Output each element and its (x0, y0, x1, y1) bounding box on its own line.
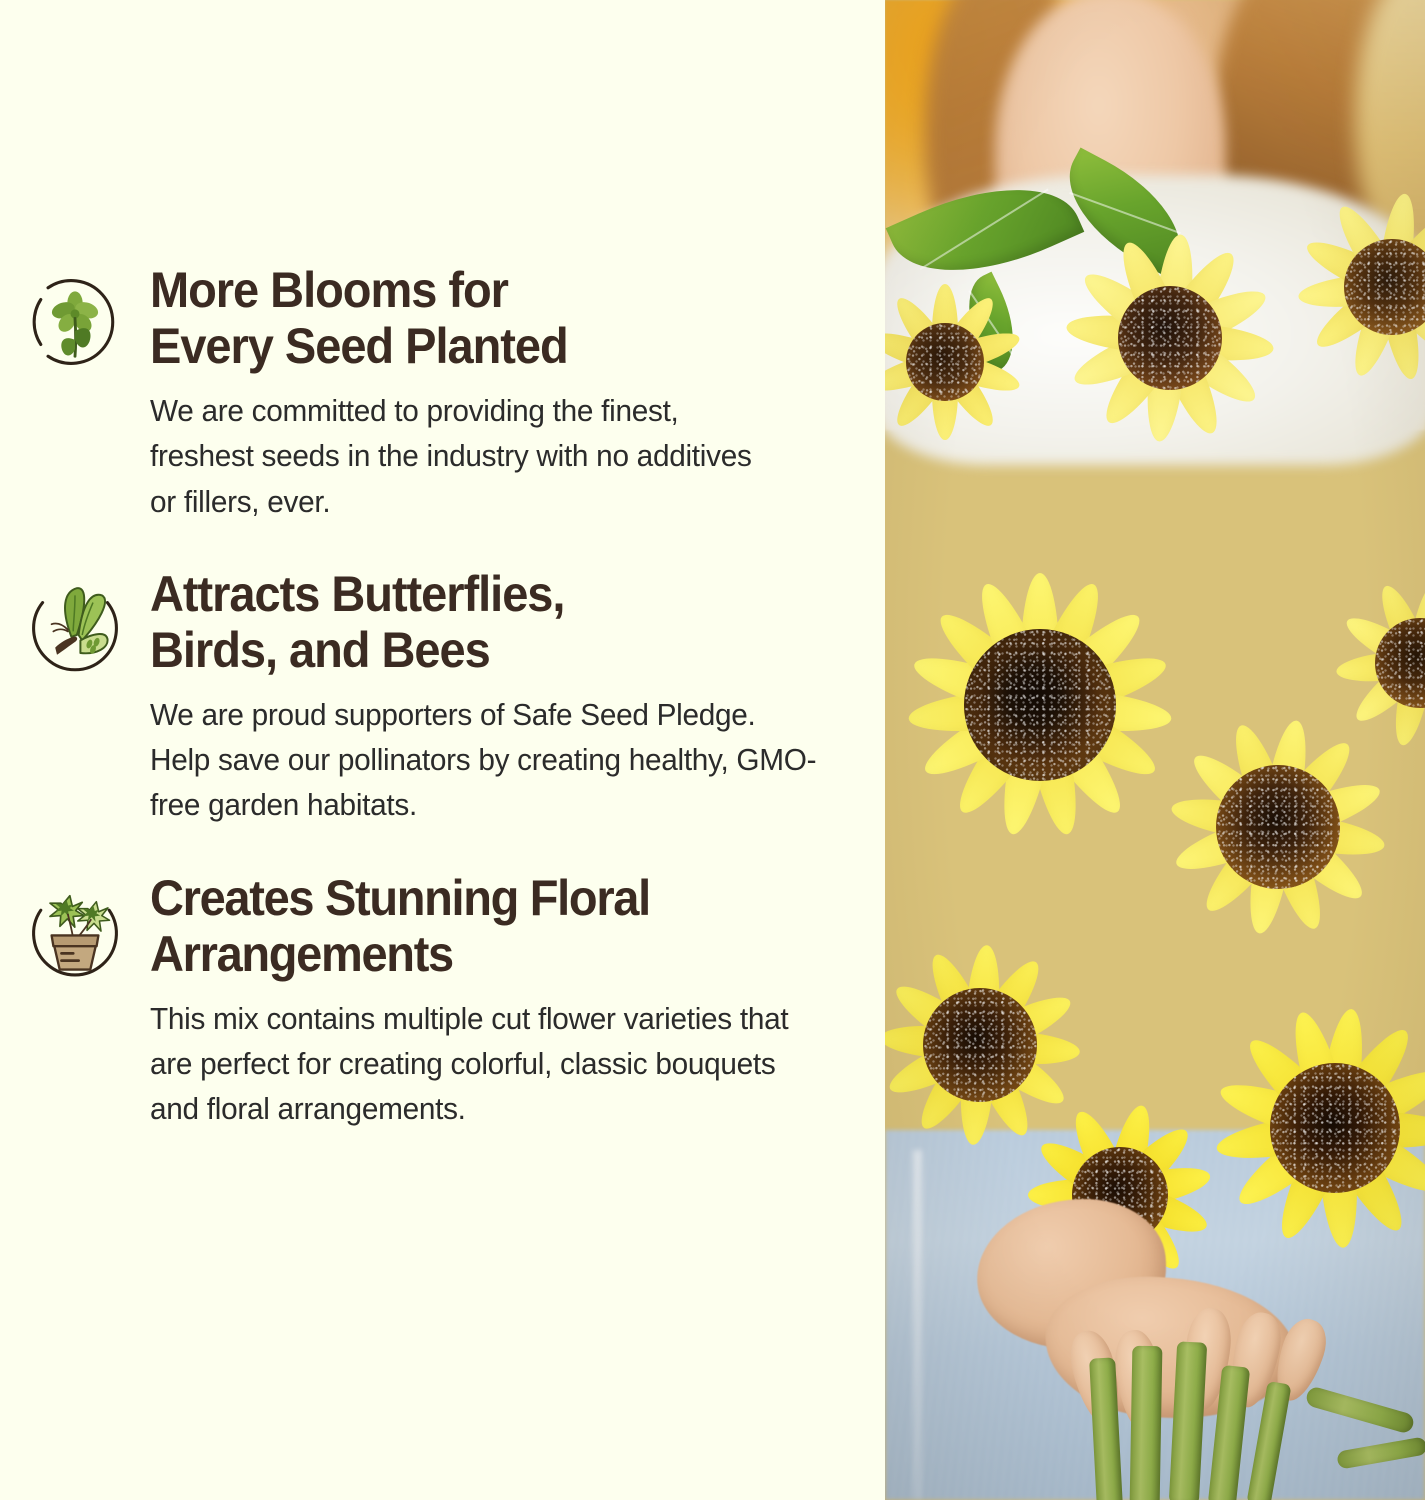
feature-item: Attracts Butterflies, Birds, and Bees We… (0, 566, 885, 828)
photo-stem (1130, 1346, 1163, 1500)
potted-plant-circle-icon (21, 876, 129, 984)
product-feature-panel: More Blooms for Every Seed Planted We ar… (0, 0, 1425, 1500)
feature-item: More Blooms for Every Seed Planted We ar… (0, 262, 885, 524)
features-list: More Blooms for Every Seed Planted We ar… (0, 262, 885, 1173)
feature-description: We are proud supporters of Safe Seed Ple… (150, 692, 817, 828)
feature-title: More Blooms for Every Seed Planted (150, 262, 803, 374)
butterfly-circle-icon (21, 572, 129, 680)
photo-sunflower (1040, 208, 1300, 468)
feature-title: Creates Stunning Floral Arrangements (150, 870, 803, 982)
feature-text-block: Creates Stunning Floral Arrangements Thi… (150, 870, 885, 1132)
sunflower-photo-panel (885, 0, 1425, 1500)
feature-text-block: More Blooms for Every Seed Planted We ar… (150, 262, 885, 524)
feature-title: Attracts Butterflies, Birds, and Bees (150, 566, 803, 678)
features-left-panel: More Blooms for Every Seed Planted We ar… (0, 0, 885, 1500)
feature-icon-container (0, 870, 150, 984)
woman-holding-sunflower-bouquet-photo (885, 0, 1425, 1500)
feature-item: Creates Stunning Floral Arrangements Thi… (0, 870, 885, 1132)
feature-description: We are committed to providing the finest… (150, 388, 784, 524)
feature-icon-container (0, 566, 150, 680)
feature-icon-container (0, 262, 150, 376)
feature-description: This mix contains multiple cut flower va… (150, 996, 817, 1132)
flower-sprout-circle-icon (21, 268, 129, 376)
feature-text-block: Attracts Butterflies, Birds, and Bees We… (150, 566, 885, 828)
photo-denim-seam (913, 1150, 922, 1500)
